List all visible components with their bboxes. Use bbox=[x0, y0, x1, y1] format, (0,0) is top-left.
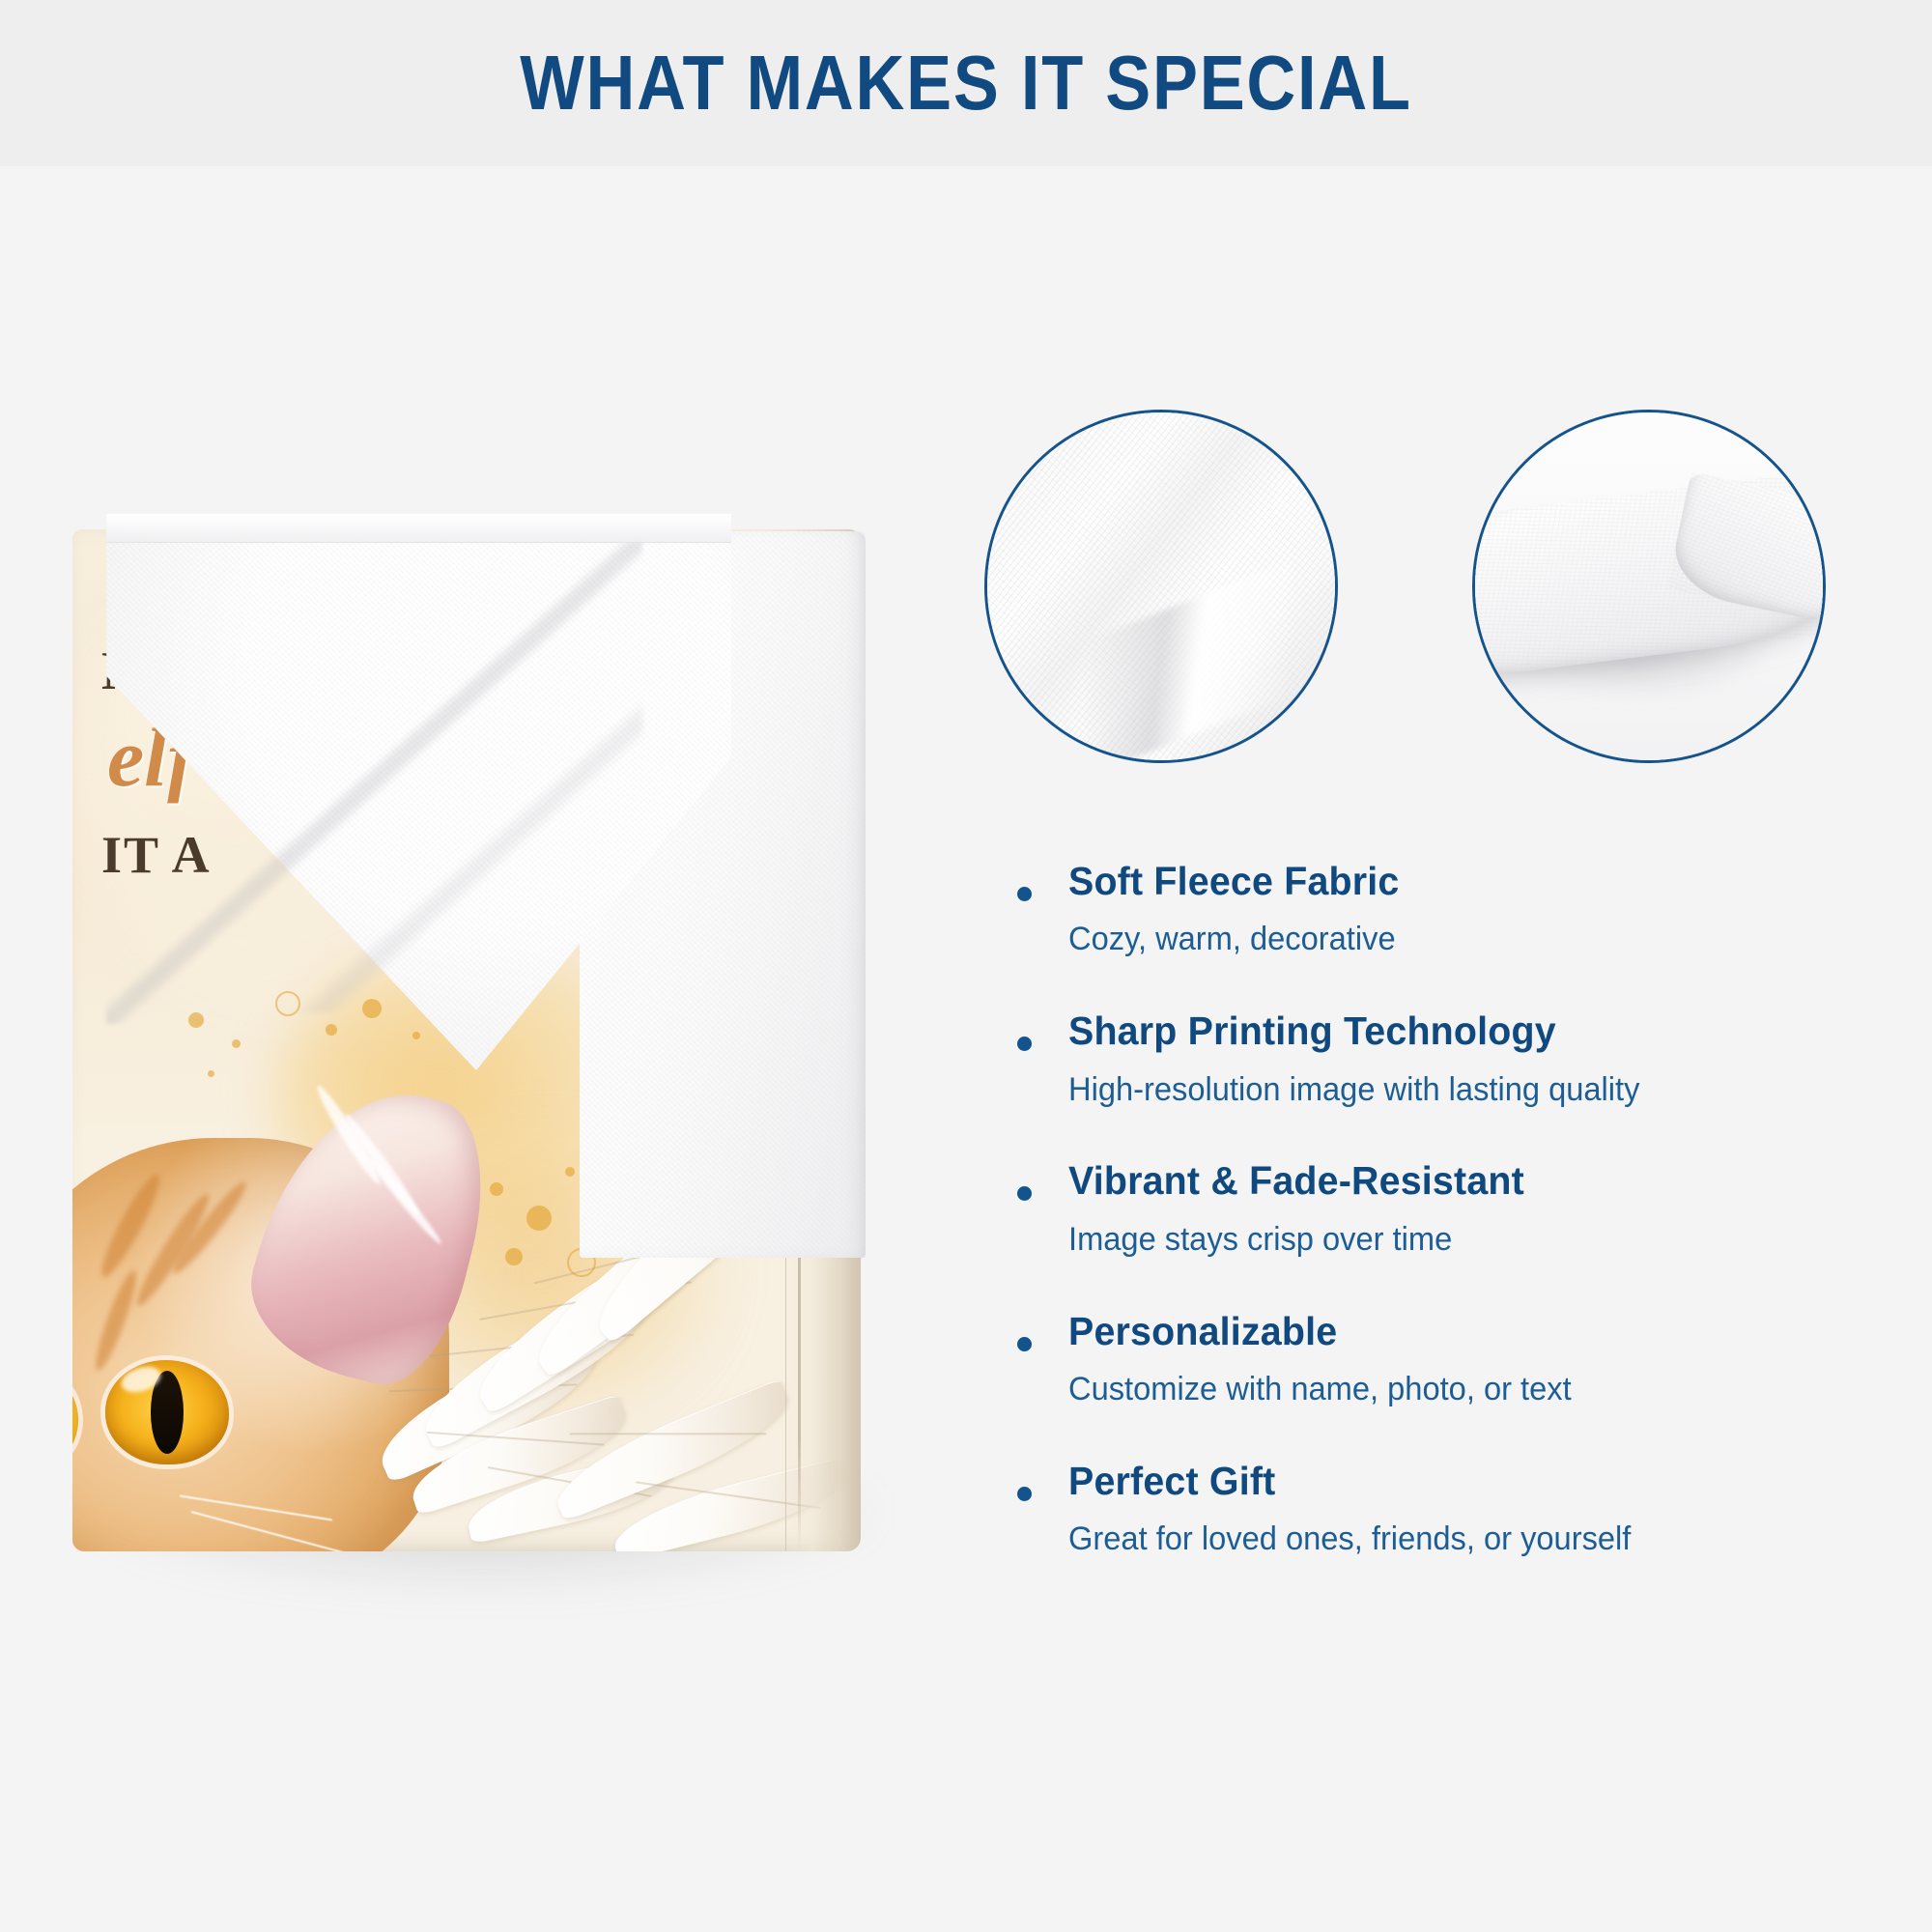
bullet-dot-icon bbox=[1017, 887, 1032, 901]
feature-item-soft-fleece-fabric: Soft Fleece Fabric Cozy, warm, decorativ… bbox=[1005, 858, 1893, 959]
feature-desc: Image stays crisp over time bbox=[1068, 1220, 1861, 1260]
feature-item-vibrant-fade-resistant: Vibrant & Fade-Resistant Image stays cri… bbox=[1005, 1157, 1893, 1259]
feature-item-personalizable: Personalizable Customize with name, phot… bbox=[1005, 1308, 1893, 1409]
bullet-dot-icon bbox=[1017, 1037, 1032, 1051]
detail-circle-folded-closeup bbox=[1472, 410, 1826, 763]
feature-desc: Great for loved ones, friends, or yourse… bbox=[1068, 1520, 1861, 1559]
bullet-dot-icon bbox=[1017, 1186, 1032, 1201]
feature-title: Soft Fleece Fabric bbox=[1068, 858, 1861, 904]
bullet-dot-icon bbox=[1017, 1487, 1032, 1501]
blanket-folded-corner bbox=[94, 502, 731, 1082]
feature-desc: High-resolution image with lasting quali… bbox=[1068, 1070, 1861, 1110]
folded-fleece-corner-image bbox=[1472, 410, 1826, 763]
feature-title: Perfect Gift bbox=[1068, 1458, 1861, 1504]
page-title: WHAT MAKES IT SPECIAL bbox=[116, 0, 1816, 166]
fleece-fabric-swatch-image bbox=[984, 410, 1338, 763]
bullet-dot-icon bbox=[1017, 1337, 1032, 1351]
feature-title: Personalizable bbox=[1068, 1308, 1861, 1354]
feature-item-sharp-printing-technology: Sharp Printing Technology High-resolutio… bbox=[1005, 1008, 1893, 1109]
feature-desc: Cozy, warm, decorative bbox=[1068, 920, 1861, 959]
feature-item-perfect-gift: Perfect Gift Great for loved ones, frien… bbox=[1005, 1458, 1893, 1559]
detail-circle-fabric-closeup bbox=[984, 410, 1338, 763]
feature-list: Soft Fleece Fabric Cozy, warm, decorativ… bbox=[1005, 858, 1893, 1559]
feature-title: Vibrant & Fade-Resistant bbox=[1068, 1157, 1861, 1204]
product-photo: ME elf IT A bbox=[53, 502, 903, 1575]
splatter-dot bbox=[565, 1167, 575, 1177]
feature-title: Sharp Printing Technology bbox=[1068, 1008, 1861, 1054]
cat-eye bbox=[105, 1360, 229, 1464]
feature-desc: Customize with name, photo, or text bbox=[1068, 1370, 1861, 1409]
